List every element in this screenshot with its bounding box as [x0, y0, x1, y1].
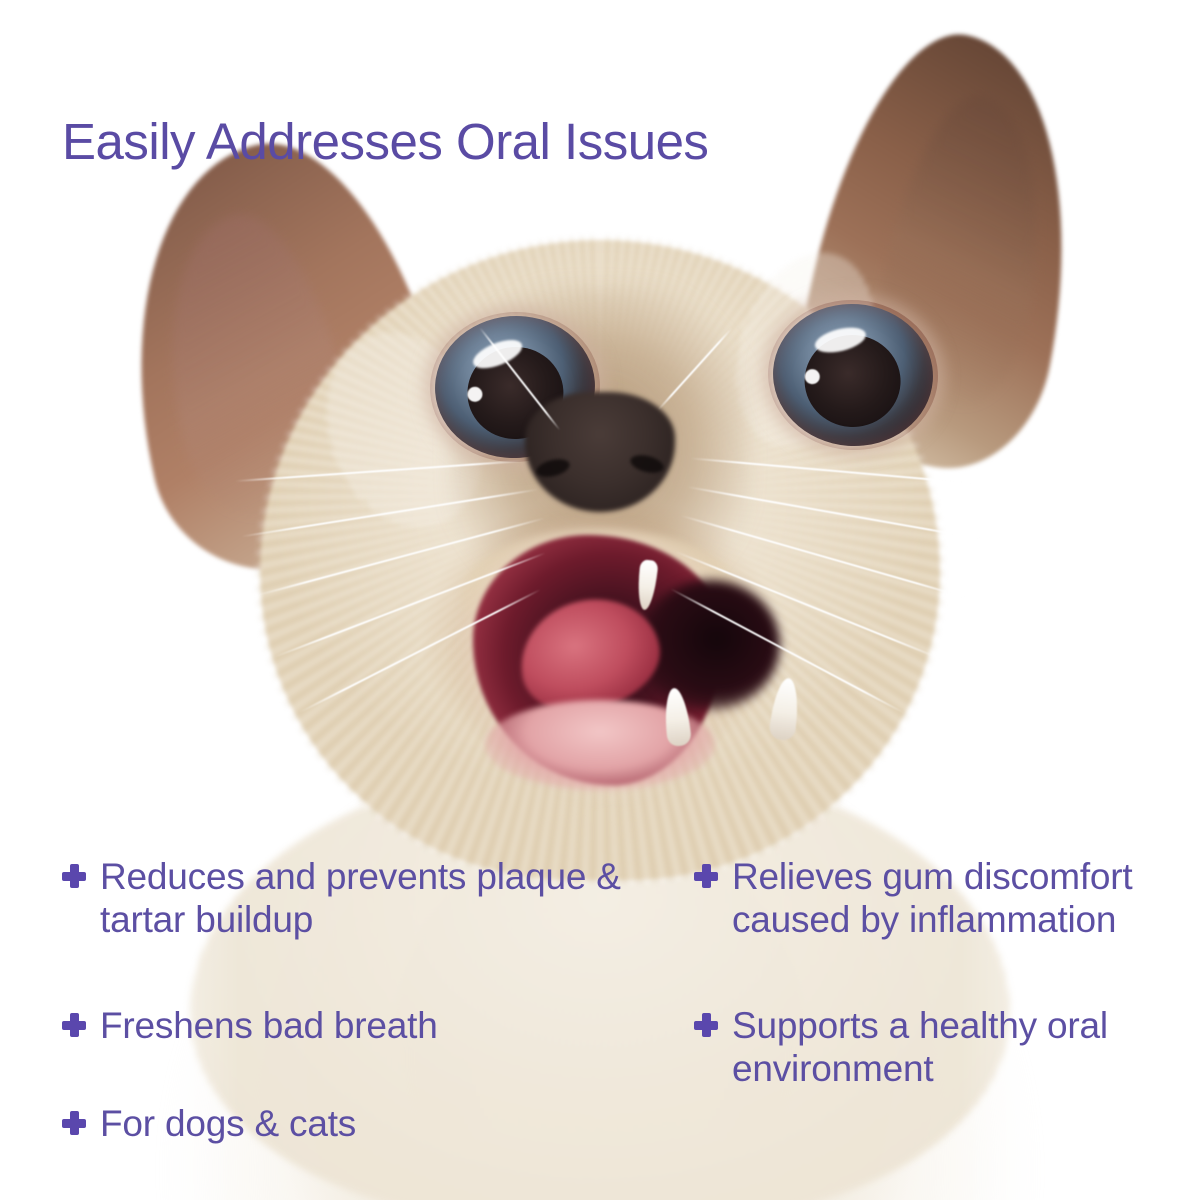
benefit-text: Freshens bad breath — [100, 1004, 438, 1047]
spacer — [694, 942, 1194, 1004]
benefit-text: Relieves gum discomfort caused by inflam… — [732, 855, 1194, 942]
plus-cross-icon — [62, 864, 86, 888]
benefit-item-gums: Relieves gum discomfort caused by inflam… — [694, 855, 1194, 942]
benefit-item-species: For dogs & cats — [62, 1102, 642, 1145]
spacer — [62, 1047, 642, 1102]
whisker — [658, 327, 733, 410]
benefits-left-column: Reduces and prevents plaque & tartar bui… — [62, 855, 642, 1145]
whisker — [235, 460, 524, 482]
spacer — [62, 942, 642, 1004]
benefit-text: For dogs & cats — [100, 1102, 356, 1145]
page-title: Easily Addresses Oral Issues — [62, 112, 708, 171]
plus-cross-icon — [694, 1013, 718, 1037]
benefit-item-environment: Supports a healthy oral environment — [694, 1004, 1194, 1091]
whisker — [255, 517, 545, 597]
benefits-right-column: Relieves gum discomfort caused by inflam… — [694, 855, 1194, 1090]
infographic-root: Easily Addresses Oral Issues Reduces and… — [0, 0, 1200, 1200]
whisker — [479, 327, 560, 430]
whisker — [687, 486, 983, 540]
plus-cross-icon — [62, 1111, 86, 1135]
plus-cross-icon — [694, 864, 718, 888]
benefit-item-breath: Freshens bad breath — [62, 1004, 642, 1047]
benefit-text: Supports a healthy oral environment — [732, 1004, 1194, 1091]
benefit-item-plaque: Reduces and prevents plaque & tartar bui… — [62, 855, 642, 942]
plus-cross-icon — [62, 1013, 86, 1037]
whisker — [690, 457, 979, 484]
benefit-text: Reduces and prevents plaque & tartar bui… — [100, 855, 642, 942]
